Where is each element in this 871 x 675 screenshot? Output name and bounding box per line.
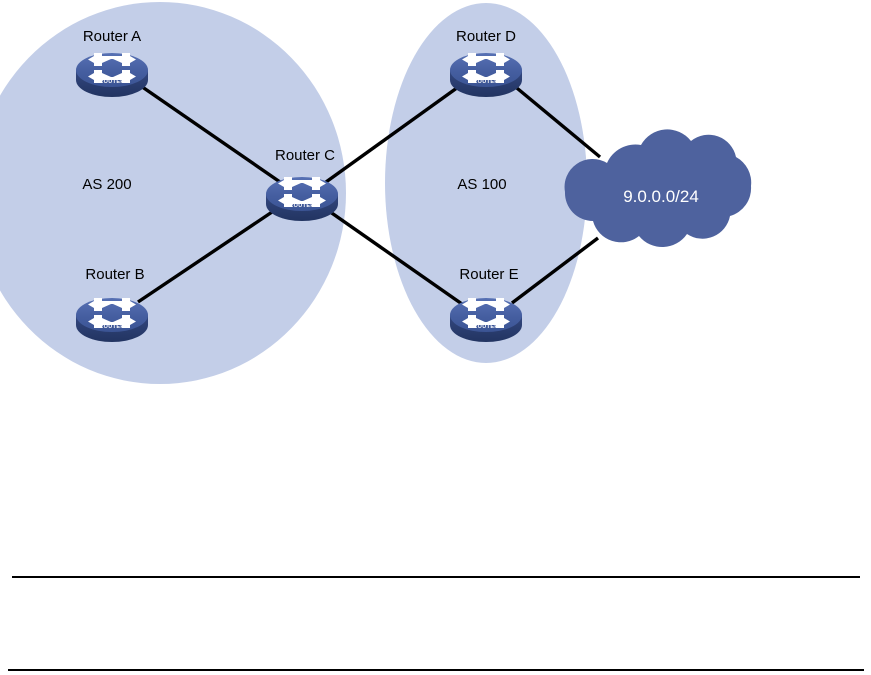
router-tag-label: ROUTER	[473, 324, 498, 330]
page-rules-layer	[8, 577, 864, 670]
router-a-label: Router A	[83, 28, 141, 45]
network-cloud: 9.0.0.0/24	[565, 129, 752, 247]
router-a[interactable]: ROUTERRouter A	[76, 28, 148, 97]
router-c-label: Router C	[275, 147, 335, 164]
as-zone-label-100: AS 100	[457, 176, 506, 193]
router-e[interactable]: ROUTERRouter E	[450, 266, 522, 342]
router-e-label: Router E	[459, 266, 518, 283]
as-zone-label-200: AS 200	[82, 176, 131, 193]
network-topology-diagram: 9.0.0.0/24 AS 200 AS 100 ROUTERRouter AR…	[0, 0, 871, 675]
router-d-label: Router D	[456, 28, 516, 45]
router-b-label: Router B	[85, 266, 144, 283]
router-b[interactable]: ROUTERRouter B	[76, 266, 148, 342]
cloud-label: 9.0.0.0/24	[623, 187, 699, 206]
router-tag-label: ROUTER	[99, 324, 124, 330]
router-c[interactable]: ROUTERRouter C	[266, 147, 338, 221]
router-tag-label: ROUTER	[289, 203, 314, 209]
router-d[interactable]: ROUTERRouter D	[450, 28, 522, 97]
router-tag-label: ROUTER	[473, 79, 498, 85]
router-tag-label: ROUTER	[99, 79, 124, 85]
